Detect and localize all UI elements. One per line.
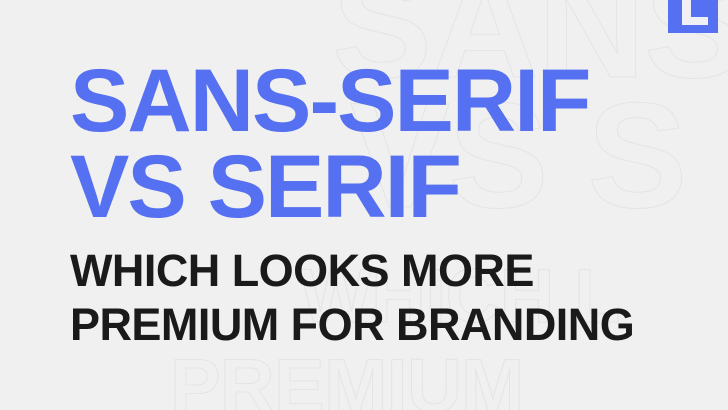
subhead-line-2: PREMIUM FOR BRANDING [70, 298, 634, 352]
headline-line-1: SANS-SERIF [70, 57, 589, 143]
poster-canvas: SANS VS S WHICH L PREMIUM SANS-SERIF VS … [0, 0, 728, 410]
poster-content: SANS-SERIF VS SERIF WHICH LOOKS MORE PRE… [70, 0, 728, 410]
headline-line-2: VS SERIF [70, 143, 589, 229]
page-title: SANS-SERIF VS SERIF [70, 57, 589, 230]
subhead-line-1: WHICH LOOKS MORE [70, 244, 634, 298]
page-subtitle: WHICH LOOKS MORE PREMIUM FOR BRANDING [70, 244, 634, 352]
